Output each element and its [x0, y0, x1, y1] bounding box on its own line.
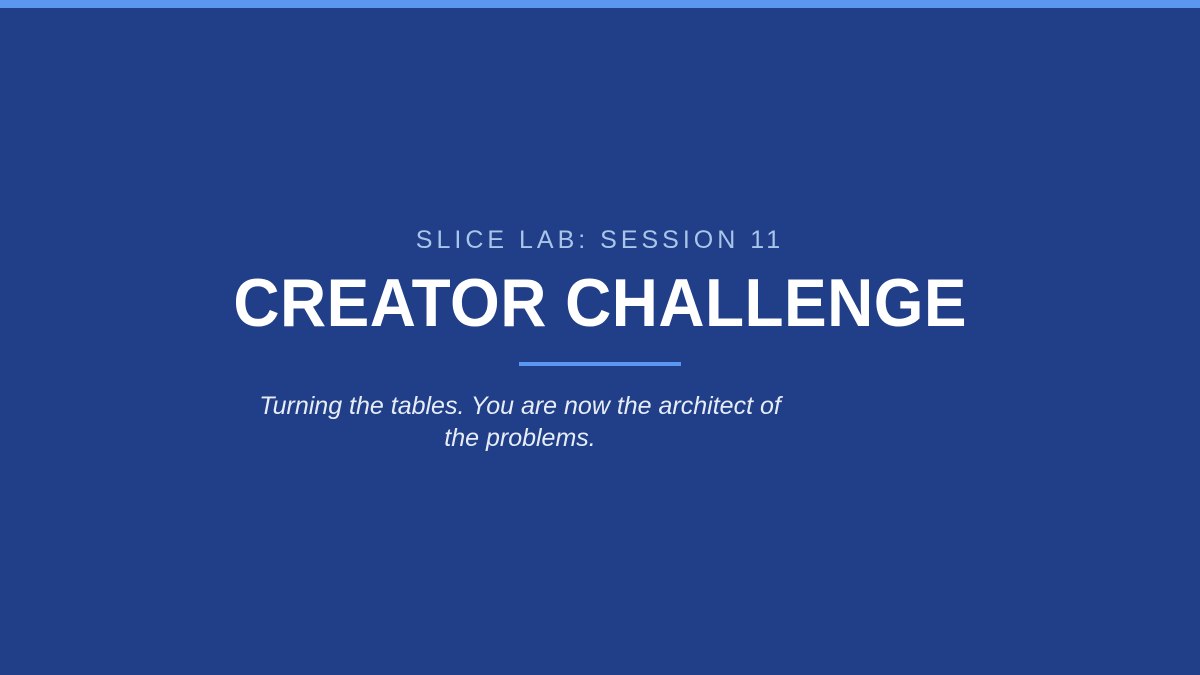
title-divider [519, 362, 681, 366]
slide-subtitle: Turning the tables. You are now the arch… [240, 390, 800, 454]
slide-title: CREATOR CHALLENGE [233, 269, 967, 337]
slide-eyebrow: SLICE LAB: SESSION 11 [416, 228, 784, 253]
presentation-slide: SLICE LAB: SESSION 11 CREATOR CHALLENGE … [0, 0, 1200, 675]
slide-content: SLICE LAB: SESSION 11 CREATOR CHALLENGE … [0, 0, 1200, 675]
